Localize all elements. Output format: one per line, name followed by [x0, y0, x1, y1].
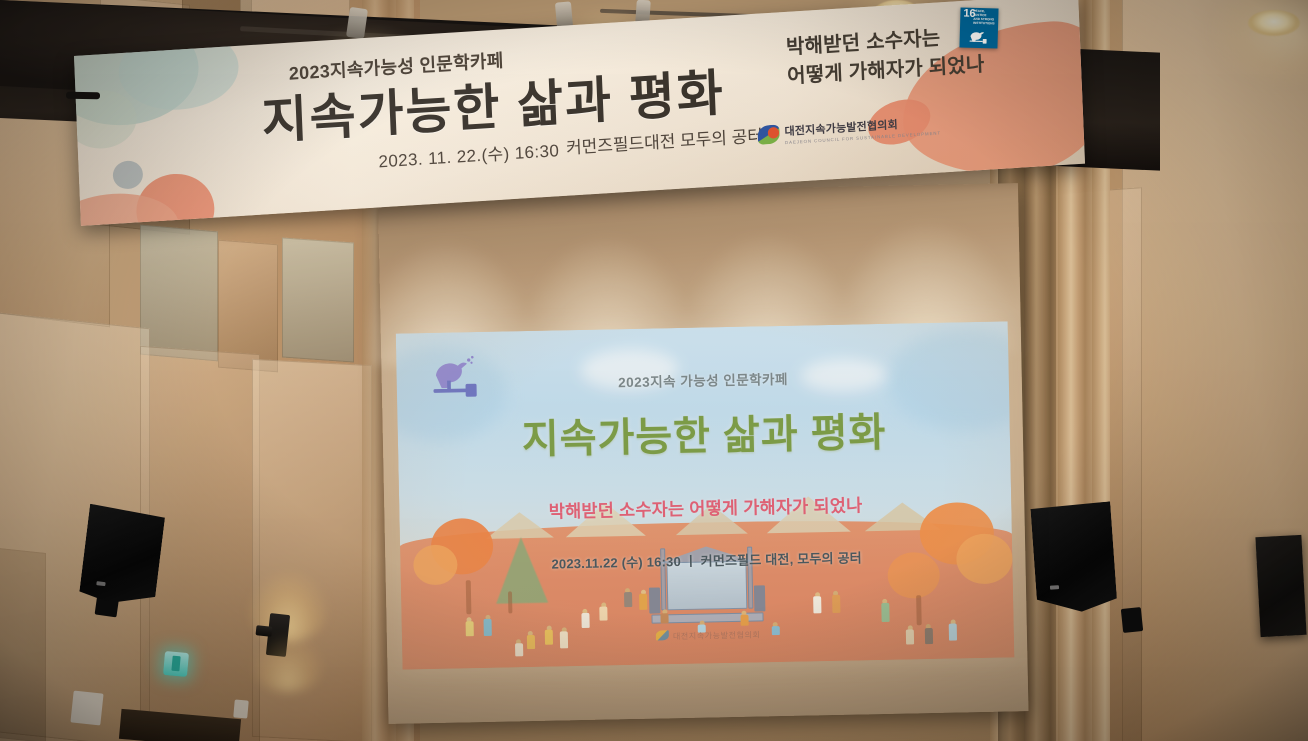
wall-plate-left — [70, 691, 103, 726]
presentation-slide: 2023지속 가능성 인문학카페 지속가능한 삶과 평화 박해받던 소수자는 어… — [396, 322, 1014, 669]
sdg-label: PEACE, JUSTICE AND STRONG INSTITUTIONS — [973, 10, 996, 26]
wall-sconce-arm — [256, 625, 273, 637]
speaker-led-left — [96, 581, 105, 586]
sdg-dove-gavel-icon — [968, 28, 992, 46]
speaker-led-right — [1050, 585, 1059, 590]
banner-blob-gray-dot — [112, 160, 143, 190]
footer-logo-mark — [656, 630, 669, 640]
sdg-16-badge: 16 PEACE, JUSTICE AND STRONG INSTITUTION… — [959, 7, 998, 48]
organizer-logo-mark — [757, 124, 780, 144]
corner-downlight — [1248, 10, 1300, 36]
speaker-mount-right — [1121, 607, 1143, 633]
wall-plate-small — [233, 699, 249, 718]
footer-logo-text: 대전지속가능발전협의회 — [673, 630, 761, 641]
banner-mount-rod — [66, 92, 100, 100]
projection-screen: 2023지속 가능성 인문학카페 지속가능한 삶과 평화 박해받던 소수자는 어… — [378, 183, 1028, 724]
sdg-label-line3: INSTITUTIONS — [973, 20, 995, 25]
slide-title: 지속가능한 삶과 평화 — [398, 397, 1011, 467]
wall-recess-dark-right — [1255, 535, 1306, 637]
tree-trunk-1 — [465, 580, 471, 614]
wall-speaker-left — [78, 504, 165, 609]
exit-sign-glyph — [171, 656, 180, 672]
sconce-glow-down — [252, 636, 324, 692]
wall-speaker-right — [1030, 501, 1117, 614]
stage-speaker-left — [649, 588, 661, 614]
emergency-exit-sign — [163, 651, 189, 677]
photo-scene: 2023지속 가능성 인문학카페 지속가능한 삶과 평화 박해받던 소수자는 어… — [0, 0, 1308, 741]
stage-speaker-right — [754, 586, 766, 612]
